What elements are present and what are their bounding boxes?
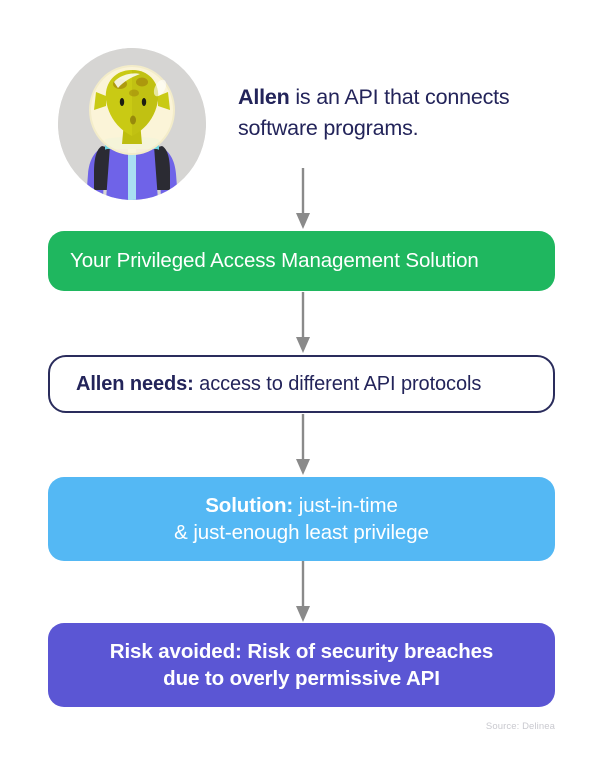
- intro-name: Allen: [238, 85, 290, 109]
- allen-needs-label-bold: Allen needs:: [76, 373, 194, 395]
- risk-avoided-box[interactable]: Risk avoided: Risk of security breachesd…: [48, 623, 555, 707]
- pam-solution-box[interactable]: Your Privileged Access Management Soluti…: [48, 231, 555, 291]
- risk-avoided-label-line2: due to overly permissive API: [163, 667, 440, 690]
- flow-arrow-3: [295, 414, 311, 476]
- solution-box[interactable]: Solution: just-in-time& just-enough leas…: [48, 477, 555, 561]
- risk-avoided-label: Risk avoided: Risk of security breachesd…: [72, 638, 531, 692]
- solution-label: Solution: just-in-time& just-enough leas…: [72, 492, 531, 546]
- flow-arrow-2: [295, 292, 311, 354]
- alien-astronaut-avatar-icon: [58, 48, 206, 200]
- allen-needs-box[interactable]: Allen needs: access to different API pro…: [48, 355, 555, 413]
- pam-solution-label: Your Privileged Access Management Soluti…: [70, 249, 533, 273]
- flow-arrow-1: [295, 168, 311, 230]
- allen-needs-label: Allen needs: access to different API pro…: [76, 373, 527, 396]
- source-attribution: Source: Delinea: [486, 721, 555, 732]
- infographic-page: Allen is an API that connects software p…: [0, 0, 600, 760]
- solution-label-bold: Solution:: [205, 494, 293, 517]
- allen-needs-label-rest: access to different API protocols: [194, 373, 482, 395]
- solution-label-rest: just-in-time: [293, 494, 398, 517]
- flow-arrow-4: [295, 561, 311, 623]
- intro-caption: Allen is an API that connects software p…: [238, 82, 568, 143]
- risk-avoided-label-line1: Risk avoided: Risk of security breaches: [110, 640, 493, 663]
- solution-label-line2: & just-enough least privilege: [174, 521, 429, 544]
